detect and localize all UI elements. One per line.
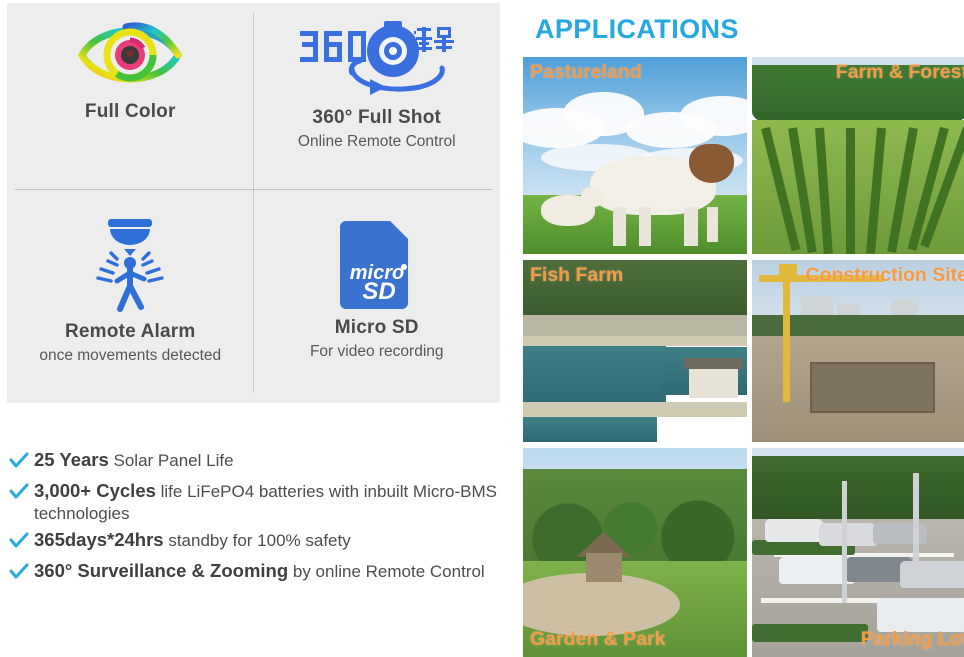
application-label: Garden & Park <box>530 628 665 651</box>
feature-cell-full-color: Full Color <box>7 3 254 203</box>
list-item: 360° Surveillance & Zooming by online Re… <box>8 559 500 587</box>
feature-subtitle: For video recording <box>310 342 444 361</box>
list-item: 365days*24hrs standby for 100% safety <box>8 528 500 556</box>
feature-title: Full Color <box>85 101 176 123</box>
list-item-text: 365days*24hrs standby for 100% safety <box>34 528 351 552</box>
applications-column: APPLICATIONS <box>504 0 964 651</box>
list-item-bold: 365days*24hrs <box>34 529 164 550</box>
application-tile-construction-site[interactable]: Construction Site <box>752 260 964 442</box>
application-label: Pastureland <box>530 61 642 84</box>
slide-root: Full Color <box>0 0 964 651</box>
application-tile-pastureland[interactable]: Pastureland <box>523 57 747 254</box>
farm-forest-photo <box>752 57 964 254</box>
list-item-text: 3,000+ Cycles life LiFePO4 batteries wit… <box>34 479 500 525</box>
application-label: Fish Farm <box>530 264 623 287</box>
list-item-bold: 3,000+ Cycles <box>34 480 156 501</box>
parking-lot-photo <box>752 448 964 657</box>
list-item-bold: 25 Years <box>34 449 109 470</box>
list-item-rest: Solar Panel Life <box>109 451 234 470</box>
list-item-rest: standby for 100% safety <box>164 531 351 550</box>
rainbow-eye-icon <box>78 13 182 95</box>
pastureland-photo <box>523 57 747 254</box>
application-label: Construction Site <box>805 264 964 287</box>
check-mark-icon <box>8 528 30 556</box>
svg-text:SD: SD <box>362 278 395 305</box>
check-mark-icon <box>8 448 30 476</box>
360-panorama-camera-icon <box>296 13 458 101</box>
application-label: Farm & Forest <box>836 61 964 84</box>
list-item: 3,000+ Cycles life LiFePO4 batteries wit… <box>8 479 500 525</box>
application-label: Parking Lot <box>861 628 964 651</box>
micro-sd-card-icon: micro SD <box>338 215 416 311</box>
feature-cell-micro-sd: micro SD Micro SD For video recording <box>254 203 501 403</box>
list-item-bold: 360° Surveillance & Zooming <box>34 560 288 581</box>
application-tile-fish-farm[interactable]: Fish Farm <box>523 260 747 442</box>
list-item-rest: by online Remote Control <box>288 562 485 581</box>
feature-subtitle: Online Remote Control <box>298 132 456 151</box>
page-title: APPLICATIONS <box>535 14 739 45</box>
feature-cell-360-full-shot: 360° Full Shot Online Remote Control <box>254 3 501 203</box>
feature-cell-remote-alarm: Remote Alarm once movements detected <box>7 203 254 403</box>
left-column: Full Color <box>0 0 504 651</box>
feature-title: Remote Alarm <box>65 321 196 343</box>
garden-park-photo <box>523 448 747 657</box>
check-mark-icon <box>8 479 30 507</box>
list-item: 25 Years Solar Panel Life <box>8 448 500 476</box>
motion-sensor-alarm-icon <box>86 215 174 315</box>
construction-site-photo <box>752 260 964 442</box>
feature-panel: Full Color <box>7 3 500 403</box>
list-item-text: 25 Years Solar Panel Life <box>34 448 234 472</box>
application-tile-parking-lot[interactable]: Parking Lot <box>752 448 964 657</box>
list-item-text: 360° Surveillance & Zooming by online Re… <box>34 559 485 583</box>
application-tile-farm-forest[interactable]: Farm & Forest <box>752 57 964 254</box>
application-tile-garden-park[interactable]: Garden & Park <box>523 448 747 657</box>
feature-title: 360° Full Shot <box>312 107 441 129</box>
feature-subtitle: once movements detected <box>39 346 221 365</box>
benefits-list: 25 Years Solar Panel Life 3,000+ Cycles … <box>8 448 500 590</box>
feature-grid: Full Color <box>7 3 500 403</box>
check-mark-icon <box>8 559 30 587</box>
applications-grid: Pastureland Farm & Forest <box>523 57 964 651</box>
fish-farm-photo <box>523 260 747 442</box>
feature-title: Micro SD <box>335 317 419 339</box>
